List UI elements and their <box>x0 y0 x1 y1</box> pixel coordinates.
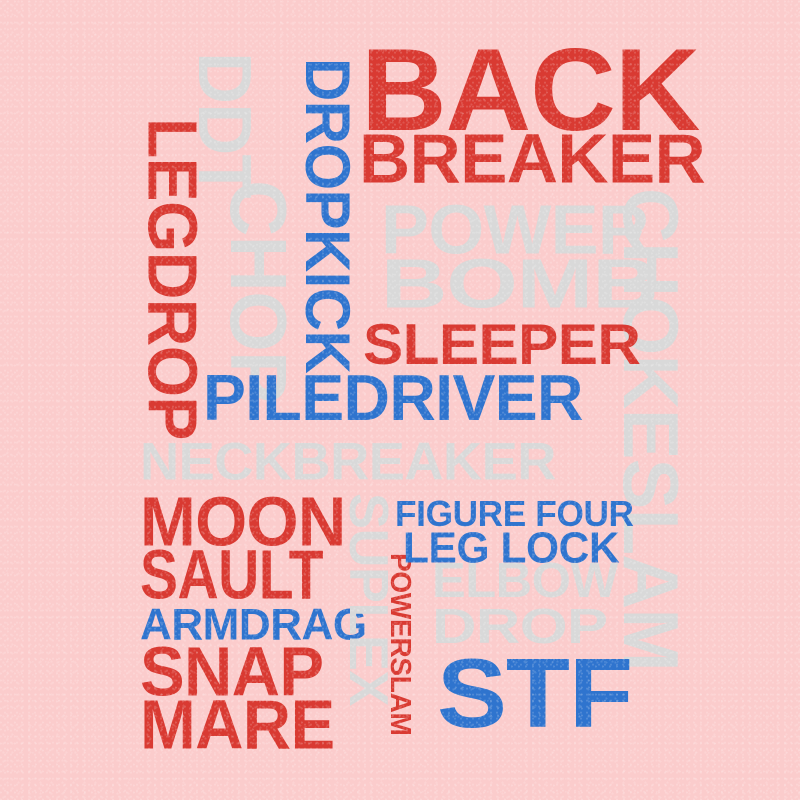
word-breaker: BREAKER <box>359 132 705 188</box>
word-powerslam: POWERSLAM <box>389 553 412 736</box>
word-mare: MARE <box>140 698 334 754</box>
word-stf: STF <box>437 655 632 733</box>
word-neckbreaker: NECKBREAKER <box>140 442 556 484</box>
word-legdrop: LEGDROP <box>145 118 200 440</box>
word-piledriver: PILEDRIVER <box>203 373 583 425</box>
word-bomb: BOMB <box>381 257 658 313</box>
poster-canvas: DDT CHOP LEGDROP DROPKICK CHOKESLAM BACK… <box>0 0 800 800</box>
word-sault: SAULT <box>140 548 323 604</box>
word-dropkick: DROPKICK <box>302 58 352 373</box>
word-elbow: ELBOW <box>432 561 618 600</box>
word-suplex: SUPLEX <box>346 493 390 706</box>
